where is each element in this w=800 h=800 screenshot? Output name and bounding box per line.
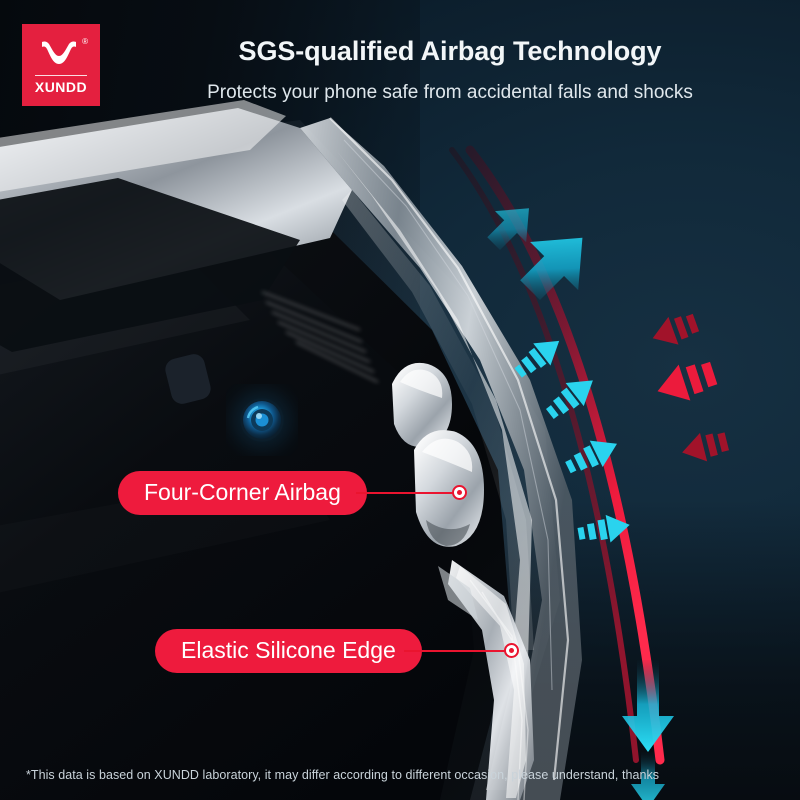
callout-elastic-silicone-edge: Elastic Silicone Edge xyxy=(155,629,422,673)
callout-target-airbag xyxy=(452,485,467,500)
disclaimer-text: *This data is based on XUNDD laboratory,… xyxy=(26,768,726,782)
callout-target-edge xyxy=(504,643,519,658)
promo-banner: ® XUNDD SGS-qualified Airbag Technology … xyxy=(0,0,800,800)
callout-layer: Four-Corner Airbag Elastic Silicone Edge xyxy=(0,0,800,800)
callout-leader-line-edge xyxy=(404,650,509,652)
callout-leader-line-airbag xyxy=(356,492,460,494)
callout-four-corner-airbag: Four-Corner Airbag xyxy=(118,471,367,515)
